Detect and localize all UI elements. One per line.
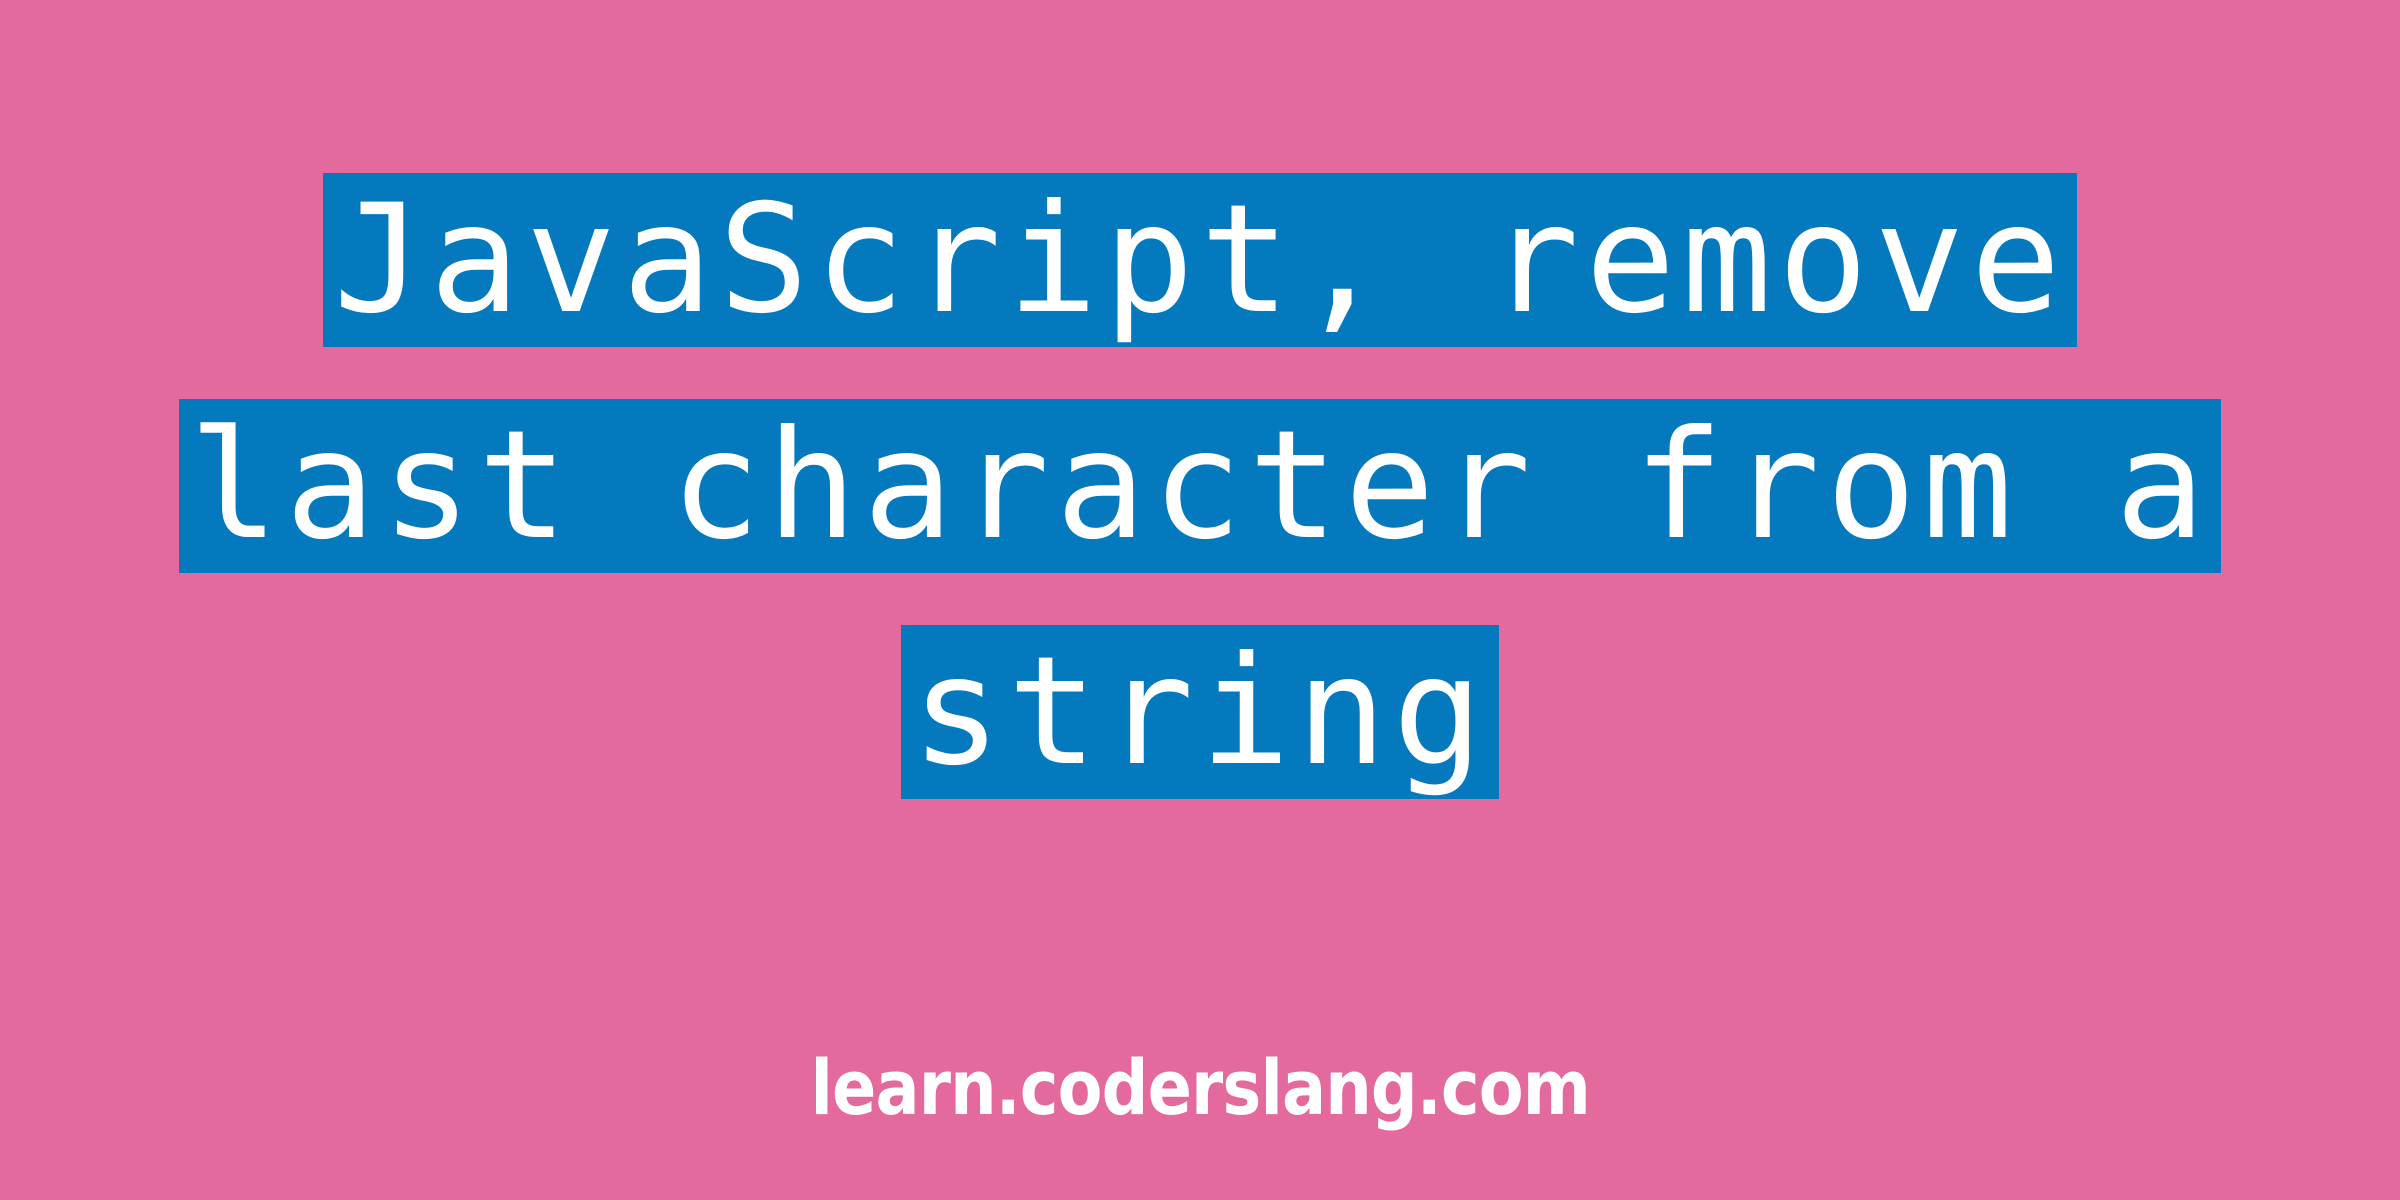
site-url-label: learn.coderslang.com [810, 1048, 1590, 1128]
title-line-3: string [0, 622, 2400, 848]
title-line-3-text: string [901, 625, 1499, 799]
title-line-2: last character from a [0, 396, 2400, 622]
social-card: JavaScript, remove last character from a… [0, 0, 2400, 1200]
title-line-1: JavaScript, remove [0, 170, 2400, 396]
title-line-2-text: last character from a [179, 399, 2221, 573]
title-block: JavaScript, remove last character from a… [0, 0, 2400, 848]
title-line-1-text: JavaScript, remove [323, 173, 2077, 347]
footer: learn.coderslang.com [0, 1048, 2400, 1128]
